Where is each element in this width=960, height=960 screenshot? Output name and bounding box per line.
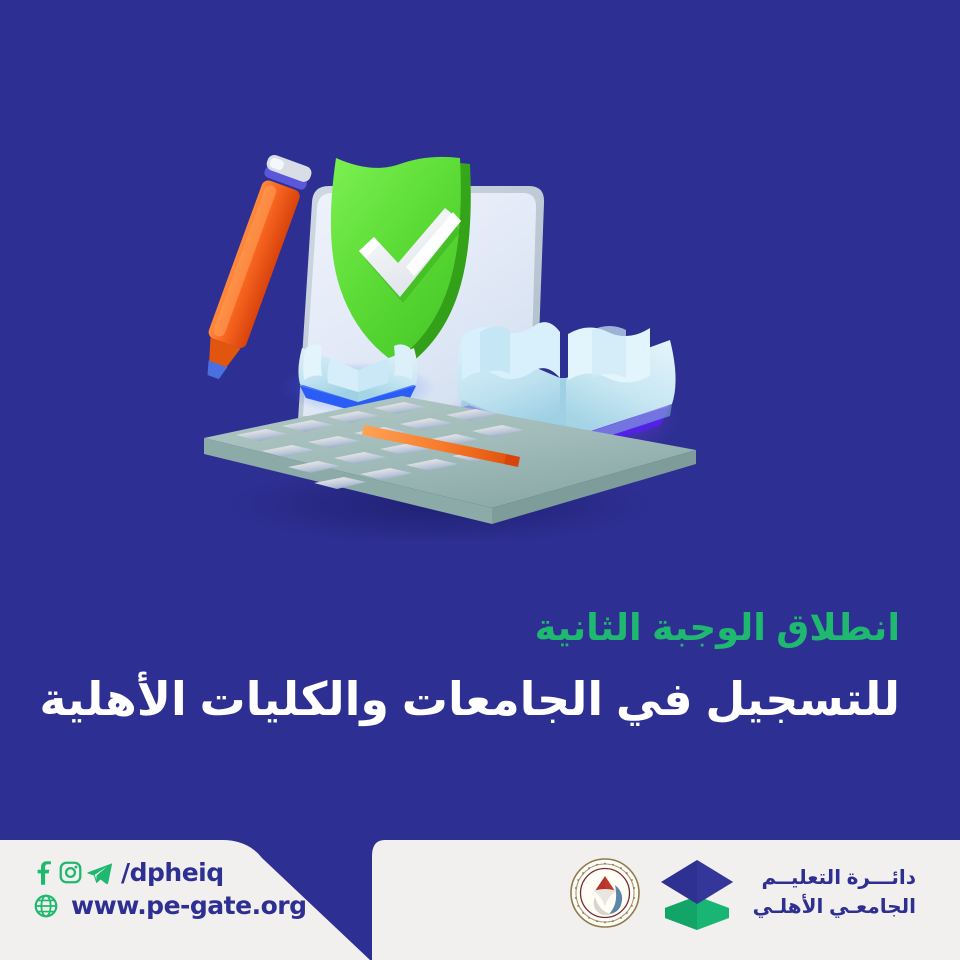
ministry-seal-icon — [569, 857, 641, 929]
footer-bar: /dpheiq www.pe-gate.org دائـــرة — [0, 830, 960, 960]
footer-brand-block: دائـــرة التعليــم الجامعـي الأهلـي — [569, 856, 916, 930]
department-name: دائـــرة التعليــم الجامعـي الأهلـي — [753, 864, 916, 922]
telegram-icon[interactable] — [87, 862, 112, 884]
globe-icon[interactable] — [34, 894, 58, 918]
graduation-cap-icon — [657, 856, 737, 930]
headline-line-2: للتسجيل في الجامعات والكليات الأهلية — [40, 664, 900, 735]
headline-line-1: انطلاق الوجبة الثانية — [40, 600, 900, 656]
instagram-icon[interactable] — [59, 861, 82, 884]
social-handle-row[interactable]: /dpheiq — [34, 858, 334, 887]
hero-illustration — [140, 120, 740, 540]
poster-canvas: انطلاق الوجبة الثانية للتسجيل في الجامعا… — [0, 0, 960, 960]
footer-social-block: /dpheiq www.pe-gate.org — [34, 858, 334, 924]
website-row[interactable]: www.pe-gate.org — [34, 891, 334, 920]
department-name-line-2: الجامعـي الأهلـي — [753, 893, 916, 922]
website-url-text[interactable]: www.pe-gate.org — [71, 891, 306, 920]
facebook-icon[interactable] — [34, 861, 54, 885]
social-handle-text[interactable]: /dpheiq — [121, 858, 224, 887]
department-name-line-1: دائـــرة التعليــم — [753, 864, 916, 893]
headline-block: انطلاق الوجبة الثانية للتسجيل في الجامعا… — [0, 600, 960, 735]
